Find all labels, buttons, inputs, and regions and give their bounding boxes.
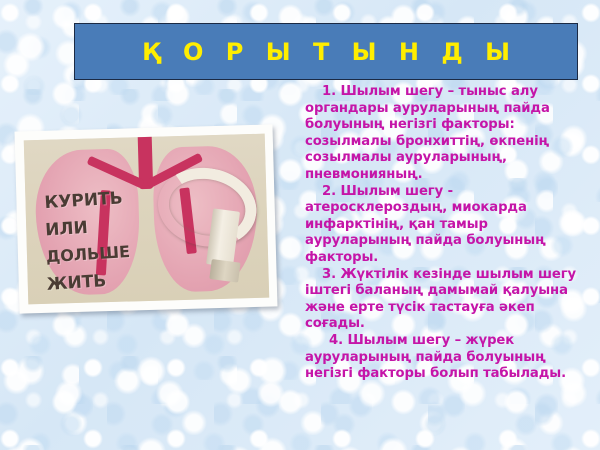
page-title: Қ О Р Ы Т Ы Н Д Ы: [135, 40, 517, 64]
body-paragraph-1: 1. Шылым шегу – тыныс алу органдары ауру…: [305, 84, 593, 184]
presentation-slide: Қ О Р Ы Т Ы Н Д Ы КУРИТЬ ИЛИ ДОЛЬШЕ ЖИТЬ…: [0, 0, 600, 450]
body-paragraph-2: 2. Шылым шегу - атеросклероздың, миокард…: [305, 184, 593, 267]
poster-image: КУРИТЬ ИЛИ ДОЛЬШЕ ЖИТЬ: [24, 134, 269, 305]
body-paragraph-4: 4. Шылым шегу – жүрек ауруларының пайда …: [305, 333, 593, 383]
poster-caption-line-4: ЖИТЬ: [47, 273, 108, 294]
cigarette-filter-icon: [210, 259, 241, 282]
body-paragraph-3: 3. Жүктілік кезінде шылым шегу іштегі ба…: [305, 267, 593, 333]
poster-photo-frame: КУРИТЬ ИЛИ ДОЛЬШЕ ЖИТЬ: [15, 124, 278, 313]
poster-caption-line-1: КУРИТЬ: [44, 190, 123, 212]
slide-body-text: 1. Шылым шегу – тыныс алу органдары ауру…: [305, 84, 593, 383]
slide-title-banner: Қ О Р Ы Т Ы Н Д Ы: [74, 23, 578, 80]
poster-caption-line-2: ИЛИ: [45, 220, 89, 240]
